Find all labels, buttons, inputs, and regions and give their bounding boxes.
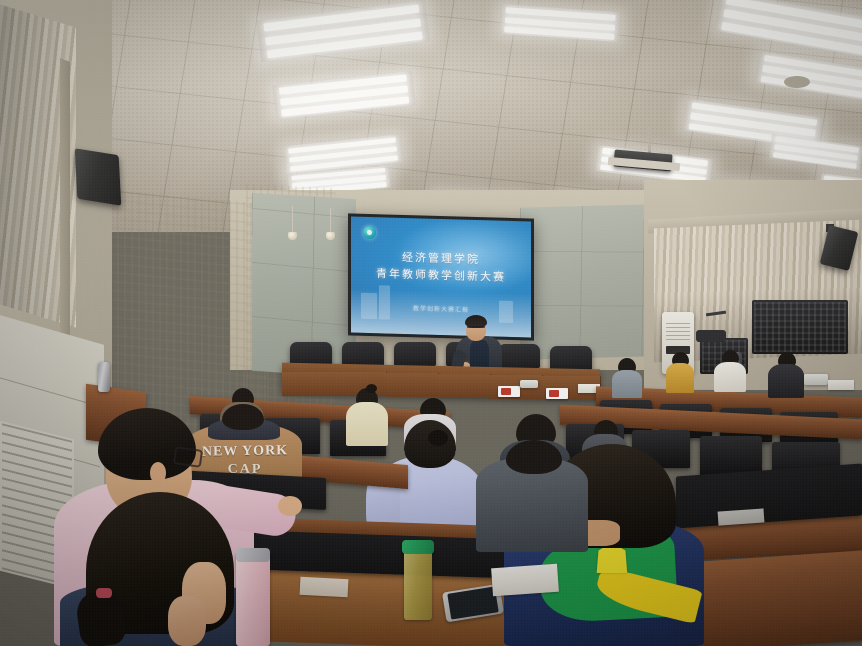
panel-chair[interactable]	[498, 344, 540, 368]
hoodie-graphic-line1: NEW YORK	[196, 443, 294, 461]
pendant-cable	[292, 206, 293, 234]
smoke-detector	[784, 76, 810, 88]
panel-chair[interactable]	[550, 346, 592, 370]
presenter-glasses-icon	[467, 326, 485, 328]
panel-chair[interactable]	[342, 342, 384, 366]
pendant-lamp	[326, 232, 335, 240]
papers-left-desk	[300, 577, 349, 597]
pink-thermos	[236, 552, 270, 646]
university-emblem-icon	[363, 226, 376, 239]
notebook-papers	[491, 564, 559, 597]
attendee-lavender-blouse-bun	[428, 430, 448, 446]
attendee-newyork-hoodie-hair	[222, 404, 264, 430]
attendee-grey-sweater-body	[612, 370, 642, 398]
audience-chair[interactable]	[700, 436, 762, 476]
attendee-grey-foreground-hair	[506, 440, 562, 474]
attendee-pink-shirt-ear	[150, 462, 166, 484]
steel-thermos	[98, 362, 110, 392]
pink-thermos-lid	[236, 548, 270, 562]
attendee-pink-shirt-hand	[278, 496, 302, 516]
panel-desk-front-segment	[386, 373, 439, 397]
name-placard-right	[546, 388, 568, 399]
air-conditioner-vent	[666, 320, 690, 340]
projection-screen[interactable]: 经济管理学院 青年教师教学创新大赛 教学创新大赛汇报	[351, 216, 531, 337]
wall-panel-seams-right	[520, 204, 650, 359]
pendant-lamp	[288, 232, 297, 240]
attendee-pink-shirt-glasses-icon	[173, 446, 203, 468]
attendee-mustard-top-body	[666, 363, 694, 393]
green-cap-bottle	[404, 548, 432, 620]
wall-speaker-left	[75, 148, 122, 206]
av-cables	[696, 330, 726, 342]
panel-desk-front-segment	[438, 374, 491, 398]
papers-rear-right	[828, 380, 854, 390]
pendant-cable	[330, 208, 331, 234]
attendee-navy-ponytail-hairtie	[96, 588, 112, 598]
name-placard-left	[498, 386, 520, 397]
lecture-hall-photo: 经济管理学院 青年教师教学创新大赛 教学创新大赛汇报	[0, 0, 862, 646]
panel-desk-front-segment	[282, 372, 335, 396]
green-cap-bottle-cap	[402, 540, 434, 554]
attendee-cream-top-bun	[366, 384, 377, 393]
attendee-white-coat-body	[714, 362, 746, 392]
panel-chair[interactable]	[394, 342, 436, 366]
foreground-desk-right-lower	[700, 550, 862, 646]
attendee-black-coat-body	[768, 364, 804, 398]
laptop-panel	[520, 380, 538, 388]
av-rack-grill	[754, 302, 846, 352]
laptop-rear-right	[804, 374, 828, 385]
attendee-cream-top-body	[346, 402, 388, 446]
attendee-navy-ponytail-hand2	[168, 596, 206, 646]
